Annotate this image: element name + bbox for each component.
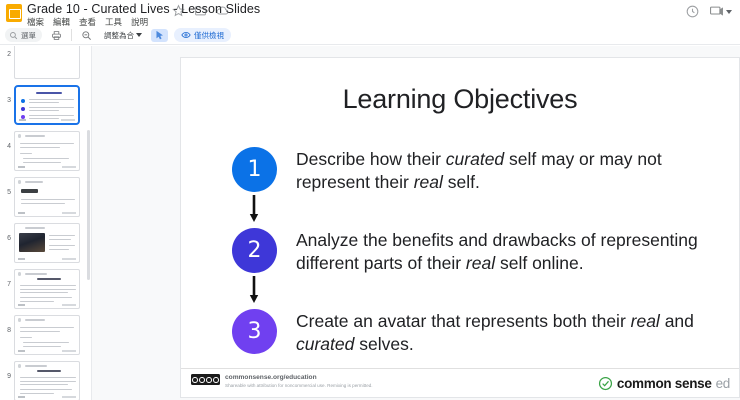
thumb-content-line [20,389,72,390]
slide-thumbnail-selected[interactable] [14,85,80,125]
brand-name: common sense [617,376,712,391]
view-only-label: 僅供檢視 [194,30,224,41]
objective-text-2: Analyze the benefits and drawbacks of re… [296,229,716,275]
thumb-content-line [49,239,71,240]
thumb-content-line [23,162,61,163]
version-history-icon[interactable] [685,4,700,19]
toolbar-divider [71,29,72,41]
menu-search-label: 選單 [21,30,36,41]
emphasis-text: curated [296,334,354,354]
objective-badge-2: 2 [232,228,277,273]
slide-thumbnail[interactable] [14,46,80,79]
thumb-footer-left [18,350,25,352]
zoom-fit-label: 調整為合 [104,30,134,41]
thumb-footer-left [18,396,25,398]
objective-text-1: Describe how their curated self may or m… [296,148,716,194]
thumb-footer-left [19,119,26,121]
creative-commons-icon [191,374,220,385]
license-block: commonsense.org/education Shareable with… [191,374,373,389]
thumb-footer-right [62,166,76,168]
plain-text: Create an avatar that represents both th… [296,311,631,331]
plain-text: selves. [354,334,413,354]
thumb-term [21,189,38,193]
filmstrip-item[interactable]: 8 [0,312,92,358]
chevron-down-icon [726,10,732,14]
license-url[interactable]: commonsense.org/education [225,374,373,382]
view-only-badge[interactable]: 僅供檢視 [174,28,231,42]
thumb-marker [18,318,21,321]
plain-text: and [660,311,694,331]
thumb-footer-left [18,166,25,168]
slide-thumbnail[interactable] [14,177,80,217]
objective-badge-3: 3 [232,309,277,354]
thumb-content-line [49,249,69,250]
print-icon [51,30,62,41]
thumb-content-line [20,292,68,293]
thumb-marker [18,134,21,137]
filmstrip-item[interactable]: 7 [0,266,92,312]
objective-number-2: 2 [248,238,262,263]
slide-number-label: 3 [2,85,11,104]
thumb-content-line [20,143,74,144]
filmstrip-item[interactable]: 4 [0,128,92,174]
slide-title: Learning Objectives [181,84,739,115]
thumb-content-line [29,110,59,111]
thumb-content-line [29,107,74,108]
thumb-content-line [49,235,75,236]
thumb-marker [18,272,21,275]
slide-thumbnail[interactable] [14,269,80,309]
eye-icon [181,30,191,40]
slide-number-label: 6 [2,223,11,242]
thumb-content-line [21,199,75,200]
thumb-content-line [29,118,59,119]
filmstrip-item[interactable]: 3 [0,82,92,128]
thumb-footer-right [61,119,75,121]
objective-badge-1: 1 [232,147,277,192]
menu-search-input[interactable]: 選單 [5,28,42,42]
thumb-objective-dot [21,107,25,111]
slide-canvas[interactable]: Learning Objectives 1 Describe how their… [92,46,740,400]
thumb-content-line [29,102,59,103]
emphasis-text: curated [446,149,504,169]
thumb-content-line [20,147,60,148]
zoom-fit-dropdown[interactable]: 調整為合 [101,29,145,42]
toolbar: 選單 調整為合 僅供檢視 [0,26,740,45]
filmstrip-item[interactable]: 5 [0,174,92,220]
thumb-content-line [20,384,68,385]
thumb-marker [18,180,21,183]
thumb-footer-right [62,350,76,352]
thumb-footer-right [62,396,76,398]
thumb-marker [18,364,21,367]
plain-text: self online. [495,253,584,273]
filmstrip-list: 2345678910 [0,46,92,400]
thumb-content-line [25,319,45,321]
thumb-content-line [20,289,76,290]
emphasis-text: real [414,172,443,192]
objective-number-1: 1 [248,157,262,182]
check-circle-icon [598,376,613,391]
arrow-down-icon-2 [249,276,259,306]
thumb-content-line [25,273,47,275]
current-slide[interactable]: Learning Objectives 1 Describe how their… [180,57,740,398]
thumb-content-line [25,135,45,137]
thumb-footer-right [62,304,76,306]
print-button[interactable] [48,29,65,42]
slide-thumbnail[interactable] [14,223,80,263]
zoom-out-icon [81,30,92,41]
thumb-footer-right [62,212,76,214]
thumb-content-line [25,181,43,183]
thumb-content-line [23,158,69,159]
thumb-content-line [37,278,61,280]
slide-filmstrip[interactable]: 2345678910 [0,46,92,400]
thumb-content-line [20,327,74,328]
brand-suffix: ed [716,376,730,391]
select-tool-button[interactable] [151,29,168,42]
cloud-saved-icon[interactable] [216,4,229,17]
slide-number-label: 2 [2,46,11,58]
thumb-content-line [20,331,60,332]
thumb-content-line [49,245,75,246]
thumb-content-line [20,297,72,298]
filmstrip-item[interactable]: 6 [0,220,92,266]
thumb-content-line [29,115,74,116]
thumb-objective-dot [21,99,25,103]
slide-thumbnail[interactable] [14,315,80,355]
objective-text-3: Create an avatar that represents both th… [296,310,716,356]
filmstrip-item[interactable]: 2 [0,46,92,82]
title-bar-right-controls [685,3,734,20]
thumb-footer-left [18,304,25,306]
slide-thumbnail[interactable] [14,131,80,171]
slide-number-label: 5 [2,177,11,196]
slide-number-label: 9 [2,361,11,380]
star-icon[interactable] [172,4,185,17]
thumb-footer-left [18,258,25,260]
thumb-content-line [21,203,65,204]
thumb-content-line [20,377,76,378]
slides-app-icon [6,4,22,22]
slide-number-label: 4 [2,131,11,150]
thumb-content-line [37,370,61,372]
emphasis-text: real [631,311,660,331]
thumb-content-line [29,99,74,100]
thumb-content-line [23,346,61,347]
thumb-content-line [20,285,76,286]
slides-app-window: Grade 10 - Curated Lives - Lesson Slides… [0,0,740,400]
chevron-down-icon [136,33,142,37]
thumb-content-line [20,301,54,302]
present-icon [709,4,724,19]
thumb-content-line [20,381,76,382]
arrow-down-icon-1 [249,195,259,225]
footer-divider [181,368,739,369]
slide-thumbnail[interactable] [14,361,80,400]
thumb-content-line [20,153,32,154]
thumb-footer-right [62,258,76,260]
thumb-content-line [20,393,54,394]
slide-number-label: 7 [2,269,11,288]
present-button[interactable] [707,3,734,20]
thumb-content-line [23,342,69,343]
license-note: Shareable with attribution for noncommer… [225,383,373,389]
thumb-content-line [25,365,47,367]
emphasis-text: real [466,253,495,273]
select-cursor-icon [154,30,165,41]
move-to-folder-icon[interactable] [194,4,207,17]
filmstrip-scrollbar[interactable] [87,130,90,280]
plain-text: Describe how their [296,149,446,169]
slide-number-label: 8 [2,315,11,334]
thumb-content-line [36,92,62,94]
search-icon [9,31,18,40]
thumb-content-line [25,227,45,229]
common-sense-logo: common sense ed [598,376,730,391]
zoom-button[interactable] [78,29,95,42]
filmstrip-item[interactable]: 9 [0,358,92,400]
thumb-image [19,233,45,252]
title-bar: Grade 10 - Curated Lives - Lesson Slides… [0,0,740,26]
thumb-content-line [20,337,32,338]
thumb-footer-left [18,212,25,214]
plain-text: self. [443,172,480,192]
objective-number-3: 3 [248,319,262,344]
title-action-icons [172,4,229,17]
